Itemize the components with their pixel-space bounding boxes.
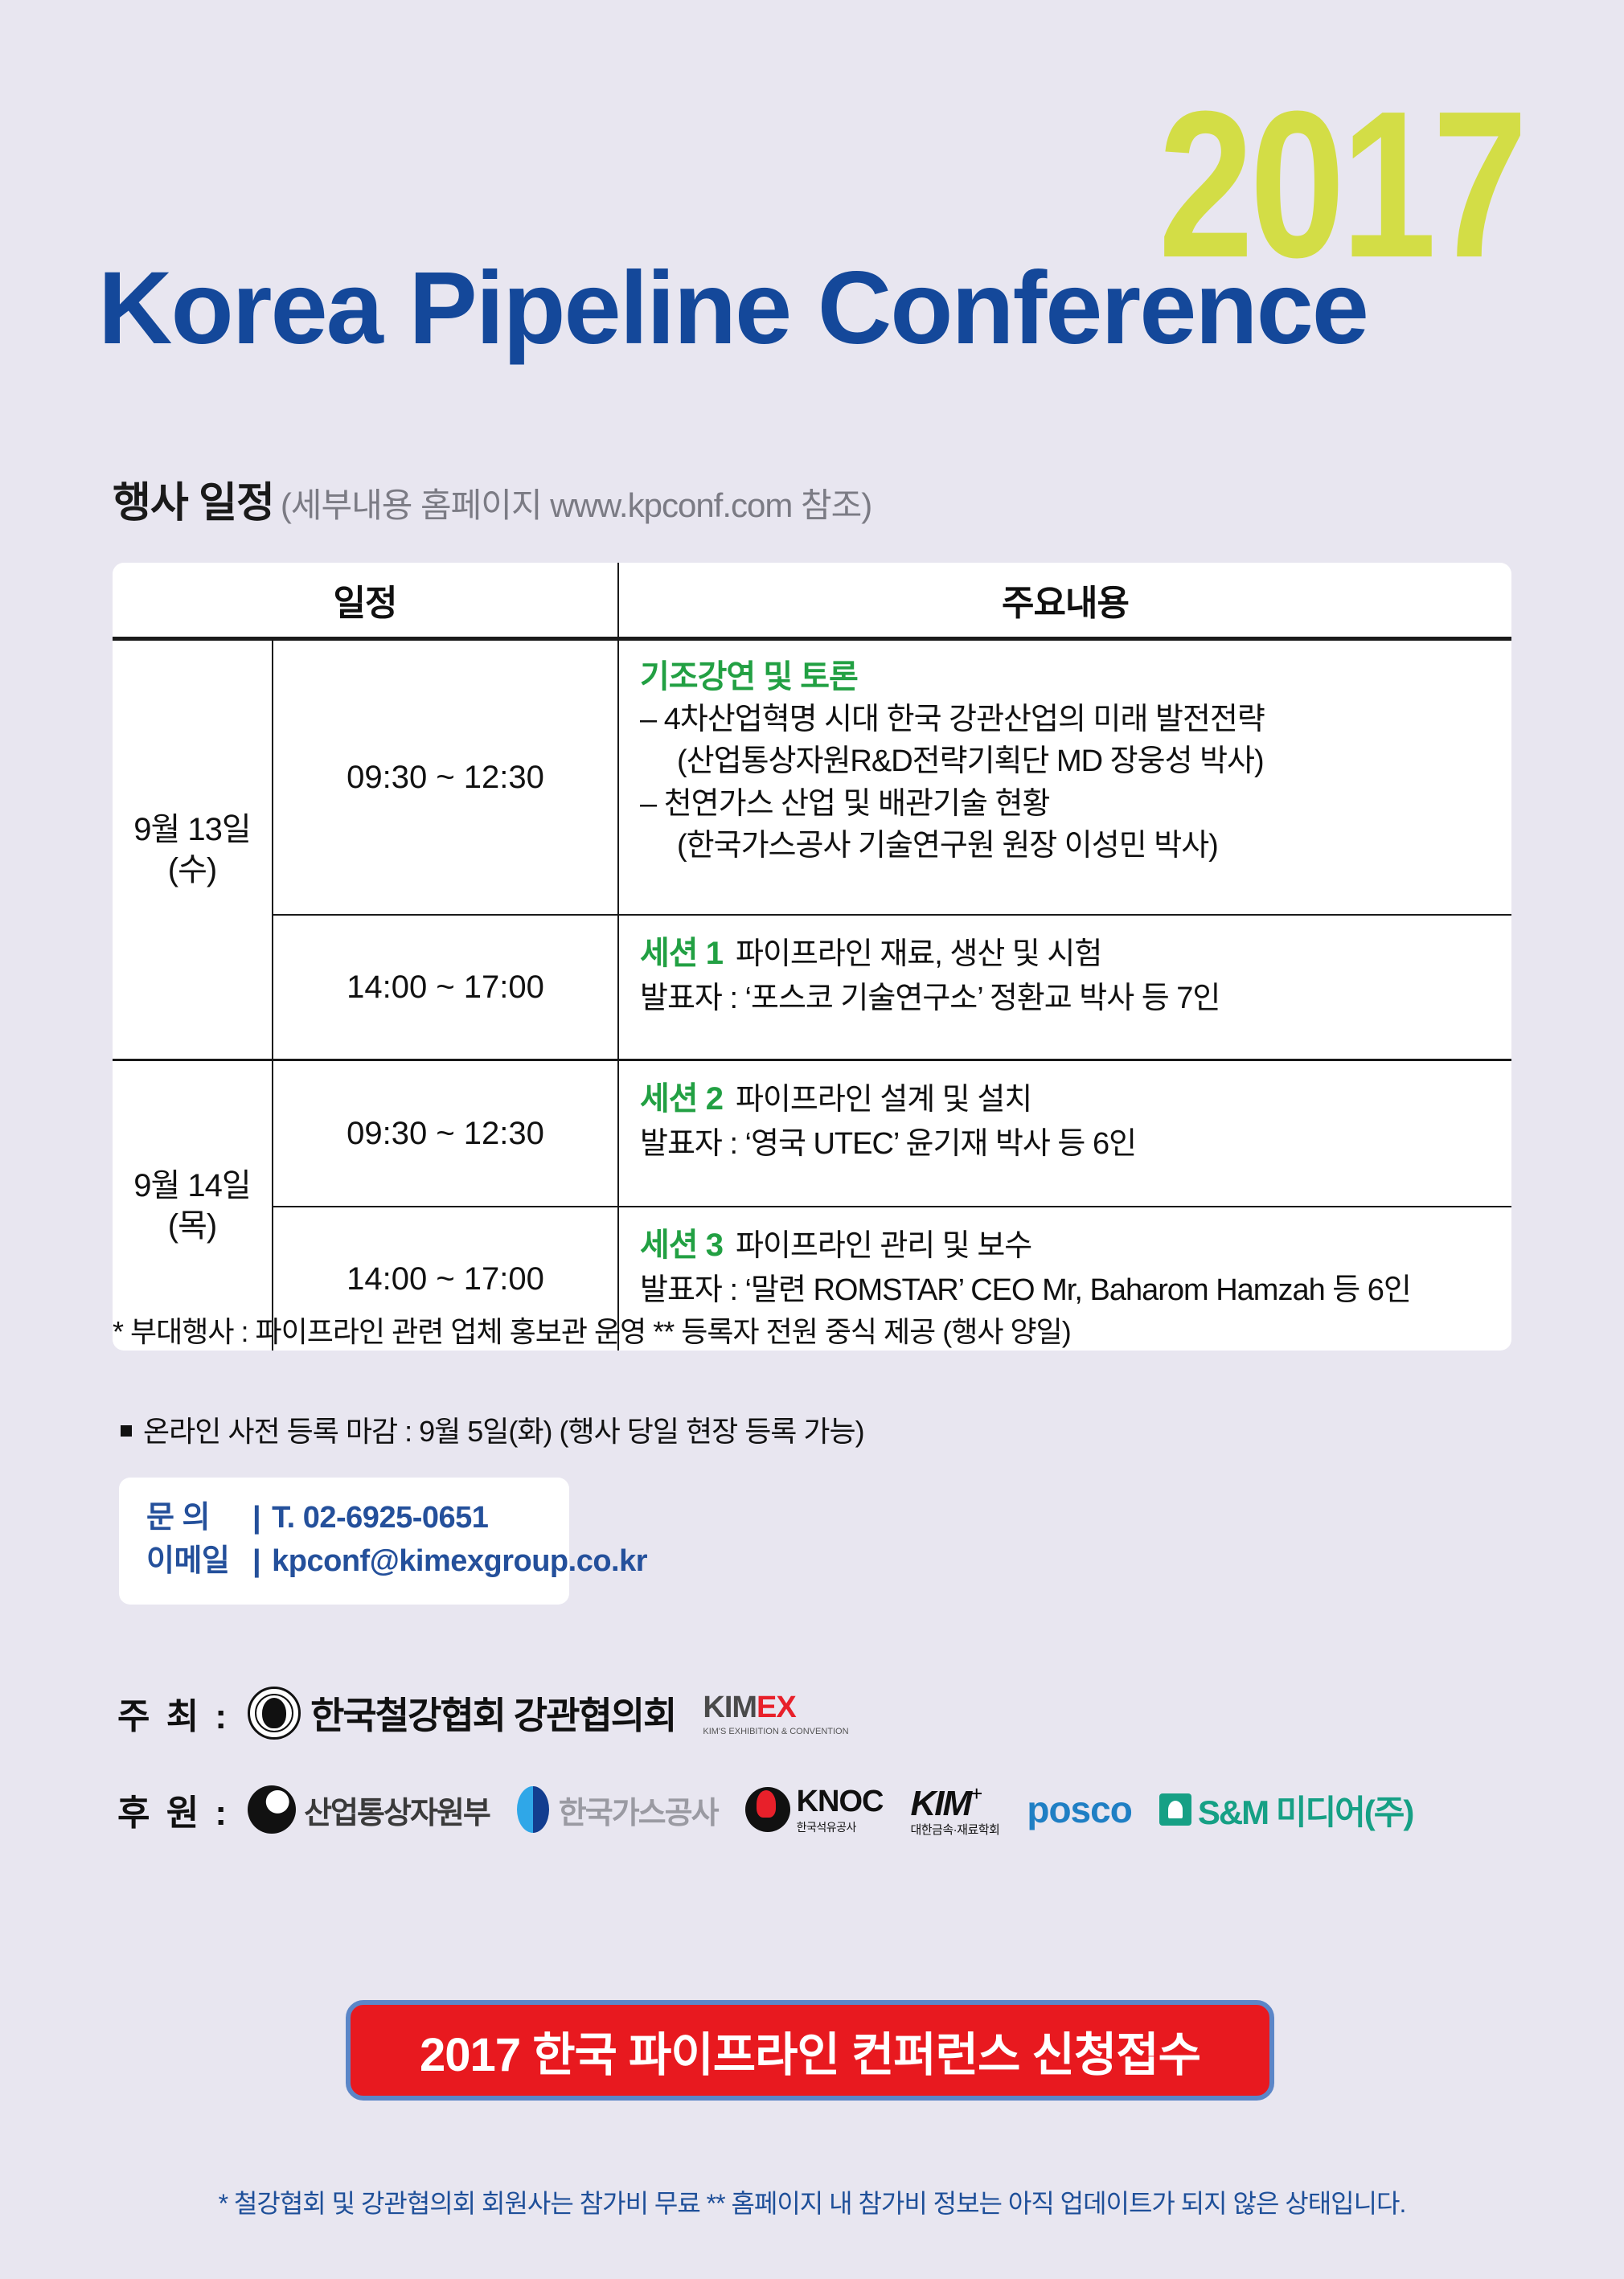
kimex-accent: EX: [757, 1691, 796, 1724]
kimex-logo-subtitle: KIM'S EXHIBITION & CONVENTION: [703, 1727, 848, 1736]
schedule-table: 일정 주요내용 9월 13일 (수) 09:30 ~ 12:30 기조강연 및 …: [113, 563, 1511, 1351]
support-sponsor-row: 후 원 : 산업통상자원부 한국가스공사 KNOC 한국석유공사 KIM+ 대한…: [117, 1781, 1440, 1838]
kosa-seal-icon: [248, 1687, 301, 1740]
contact-phone-value[interactable]: T. 02-6925-0651: [272, 1501, 488, 1535]
schedule-heading: 행사 일정(세부내용 홈페이지 www.kpconf.com 참조): [113, 482, 871, 524]
knoc-logo-subtitle: 한국석유공사: [797, 1819, 884, 1835]
sm-media-logo-label: S&M 미디어(주): [1198, 1785, 1413, 1834]
schedule-heading-sub: (세부내용 홈페이지 www.kpconf.com 참조): [281, 486, 871, 524]
keynote-item-2: – 천연가스 산업 및 배관기술 현황: [640, 783, 1497, 825]
motie-taegeuk-icon: [248, 1785, 296, 1834]
logo-kogas: 한국가스공사: [517, 1786, 718, 1833]
date-cell-day2: 9월 14일 (목): [113, 1061, 273, 1351]
poster-root: 2017 Korea Pipeline Conference 행사 일정(세부내…: [0, 0, 1624, 2279]
table-row: 09:30 ~ 12:30 기조강연 및 토론 – 4차산업혁명 시대 한국 강…: [273, 641, 1511, 914]
logo-kimex: KIMEXKIM'S EXHIBITION & CONVENTION: [703, 1691, 848, 1736]
host-sponsor-row: 주 최 : 한국철강협회 강관협의회 KIMEXKIM'S EXHIBITION…: [117, 1687, 876, 1740]
kim-logo-label: KIM: [910, 1784, 970, 1823]
keynote-speaker-2: (한국가스공사 기술연구원 원장 이성민 박사): [640, 825, 1497, 867]
column-header-label: 주요내용: [1002, 574, 1129, 625]
contact-email-value[interactable]: kpconf@kimexgroup.co.kr: [272, 1544, 647, 1578]
date-line-primary: 9월 13일: [133, 810, 250, 850]
table-row: 9월 13일 (수) 09:30 ~ 12:30 기조강연 및 토론 – 4차산…: [113, 641, 1511, 1059]
date-line-weekday: (목): [168, 1206, 216, 1246]
page-title: Korea Pipeline Conference: [98, 257, 1368, 360]
session-title: 파이프라인 관리 및 보수: [736, 1229, 1031, 1263]
kosa-logo-label: 한국철강협회 강관협의회: [310, 1687, 675, 1740]
contact-separator: |: [252, 1501, 260, 1535]
knoc-flame-icon: [745, 1787, 790, 1832]
session1-presenter: 발표자 : ‘포스코 기술연구소’ 정환교 박사 등 7인: [640, 977, 1497, 1021]
kim-logo-block: KIM+ 대한금속·재료학회: [910, 1781, 999, 1838]
session-tag: 세션 3: [640, 1228, 723, 1263]
note-side-events: * 부대행사 : 파이프라인 관련 업체 홍보관 운영 ** 등록자 전원 중식…: [113, 1309, 1071, 1351]
kogas-logo-label: 한국가스공사: [559, 1788, 718, 1832]
session3-heading: 세션 3파이프라인 관리 및 보수: [640, 1222, 1497, 1269]
keynote-speaker-1: (산업통상자원R&D전략기획단 MD 장웅성 박사): [640, 740, 1497, 782]
contact-phone-label: 문 의: [146, 1497, 241, 1540]
bullet-icon: [121, 1425, 132, 1437]
schedule-heading-main: 행사 일정: [113, 480, 274, 527]
day1-session-rows: 09:30 ~ 12:30 기조강연 및 토론 – 4차산업혁명 시대 한국 강…: [273, 641, 1511, 1059]
contact-email-label: 이메일: [146, 1540, 241, 1584]
session2-heading: 세션 2파이프라인 설계 및 설치: [640, 1076, 1497, 1122]
logo-posco: posco: [1027, 1788, 1131, 1831]
host-label: 주 최 :: [117, 1687, 230, 1739]
poster-header: 2017 Korea Pipeline Conference: [0, 0, 1624, 418]
knoc-logo-label: KNOC: [797, 1785, 884, 1818]
content-cell-session1: 세션 1파이프라인 재료, 생산 및 시험 발표자 : ‘포스코 기술연구소’ …: [619, 916, 1511, 1059]
session-tag: 세션 1: [640, 936, 723, 971]
day2-session-rows: 09:30 ~ 12:30 세션 2파이프라인 설계 및 설치 발표자 : ‘영…: [273, 1061, 1511, 1351]
column-header-label: 일정: [334, 574, 397, 625]
contact-separator: |: [252, 1544, 260, 1578]
contact-email-row: 이메일|kpconf@kimexgroup.co.kr: [146, 1540, 542, 1584]
motie-logo-label: 산업통상자원부: [304, 1788, 490, 1832]
logo-knoc: KNOC 한국석유공사: [745, 1785, 884, 1835]
logo-kim: KIM+ 대한금속·재료학회: [910, 1781, 999, 1838]
contact-phone-row: 문 의|T. 02-6925-0651: [146, 1497, 542, 1540]
kim-logo-subtitle: 대한금속·재료학회: [910, 1821, 999, 1838]
content-cell-session2: 세션 2파이프라인 설계 및 설치 발표자 : ‘영국 UTEC’ 윤기재 박사…: [619, 1061, 1511, 1206]
table-header-cell-content: 주요내용: [619, 563, 1511, 637]
table-row: 14:00 ~ 17:00 세션 1파이프라인 재료, 생산 및 시험 발표자 …: [273, 914, 1511, 1059]
note-registration-label: 온라인 사전 등록 마감 : 9월 5일(화) (행사 당일 현장 등록 가능): [143, 1415, 864, 1448]
time-cell: 14:00 ~ 17:00: [273, 916, 619, 1059]
date-line-primary: 9월 14일: [133, 1166, 250, 1206]
table-header-row: 일정 주요내용: [113, 563, 1511, 637]
sm-media-icon: [1159, 1793, 1191, 1826]
logo-motie: 산업통상자원부: [248, 1785, 490, 1834]
time-range-label: 14:00 ~ 17:00: [347, 969, 544, 1006]
posco-logo-label: posco: [1027, 1788, 1131, 1831]
session2-presenter: 발표자 : ‘영국 UTEC’ 윤기재 박사 등 6인: [640, 1122, 1497, 1166]
time-cell: 09:30 ~ 12:30: [273, 641, 619, 914]
session-title: 파이프라인 설계 및 설치: [736, 1083, 1031, 1117]
registration-button-label: 2017 한국 파이프라인 컨퍼런스 신청접수: [420, 2017, 1200, 2084]
keynote-title: 기조강연 및 토론: [640, 655, 1497, 699]
kogas-flame-icon: [517, 1786, 549, 1833]
kimex-logo-label: KIMEXKIM'S EXHIBITION & CONVENTION: [703, 1691, 848, 1736]
session3-presenter: 발표자 : ‘말련 ROMSTAR’ CEO Mr, Baharom Hamza…: [640, 1269, 1497, 1313]
time-range-label: 14:00 ~ 17:00: [347, 1261, 544, 1297]
time-range-label: 09:30 ~ 12:30: [347, 760, 544, 796]
contact-box: 문 의|T. 02-6925-0651 이메일|kpconf@kimexgrou…: [119, 1478, 569, 1605]
time-cell: 09:30 ~ 12:30: [273, 1061, 619, 1206]
logo-kosa: 한국철강협회 강관협의회: [248, 1687, 675, 1740]
registration-button[interactable]: 2017 한국 파이프라인 컨퍼런스 신청접수: [346, 2000, 1274, 2101]
session-tag: 세션 2: [640, 1081, 723, 1117]
support-label: 후 원 :: [117, 1784, 230, 1835]
logo-sm-media: S&M 미디어(주): [1159, 1785, 1413, 1834]
session-title: 파이프라인 재료, 생산 및 시험: [736, 937, 1101, 971]
disclaimer-text: * 철강협회 및 강관협의회 회원사는 참가비 무료 ** 홈페이지 내 참가비…: [0, 2183, 1624, 2220]
kim-plus-icon: +: [970, 1781, 982, 1806]
note-registration: 온라인 사전 등록 마감 : 9월 5일(화) (행사 당일 현장 등록 가능): [121, 1408, 864, 1450]
keynote-item-1: – 4차산업혁명 시대 한국 강관산업의 미래 발전전략: [640, 699, 1497, 740]
table-row: 9월 14일 (목) 09:30 ~ 12:30 세션 2파이프라인 설계 및 …: [113, 1059, 1511, 1351]
date-cell-day1: 9월 13일 (수): [113, 641, 273, 1059]
session1-heading: 세션 1파이프라인 재료, 생산 및 시험: [640, 930, 1497, 977]
date-line-weekday: (수): [168, 850, 216, 890]
knoc-logo-block: KNOC 한국석유공사: [797, 1785, 884, 1835]
table-header-cell-date: 일정: [113, 563, 619, 637]
time-range-label: 09:30 ~ 12:30: [347, 1116, 544, 1152]
table-row: 09:30 ~ 12:30 세션 2파이프라인 설계 및 설치 발표자 : ‘영…: [273, 1061, 1511, 1206]
content-cell-keynote: 기조강연 및 토론 – 4차산업혁명 시대 한국 강관산업의 미래 발전전략 (…: [619, 641, 1511, 914]
